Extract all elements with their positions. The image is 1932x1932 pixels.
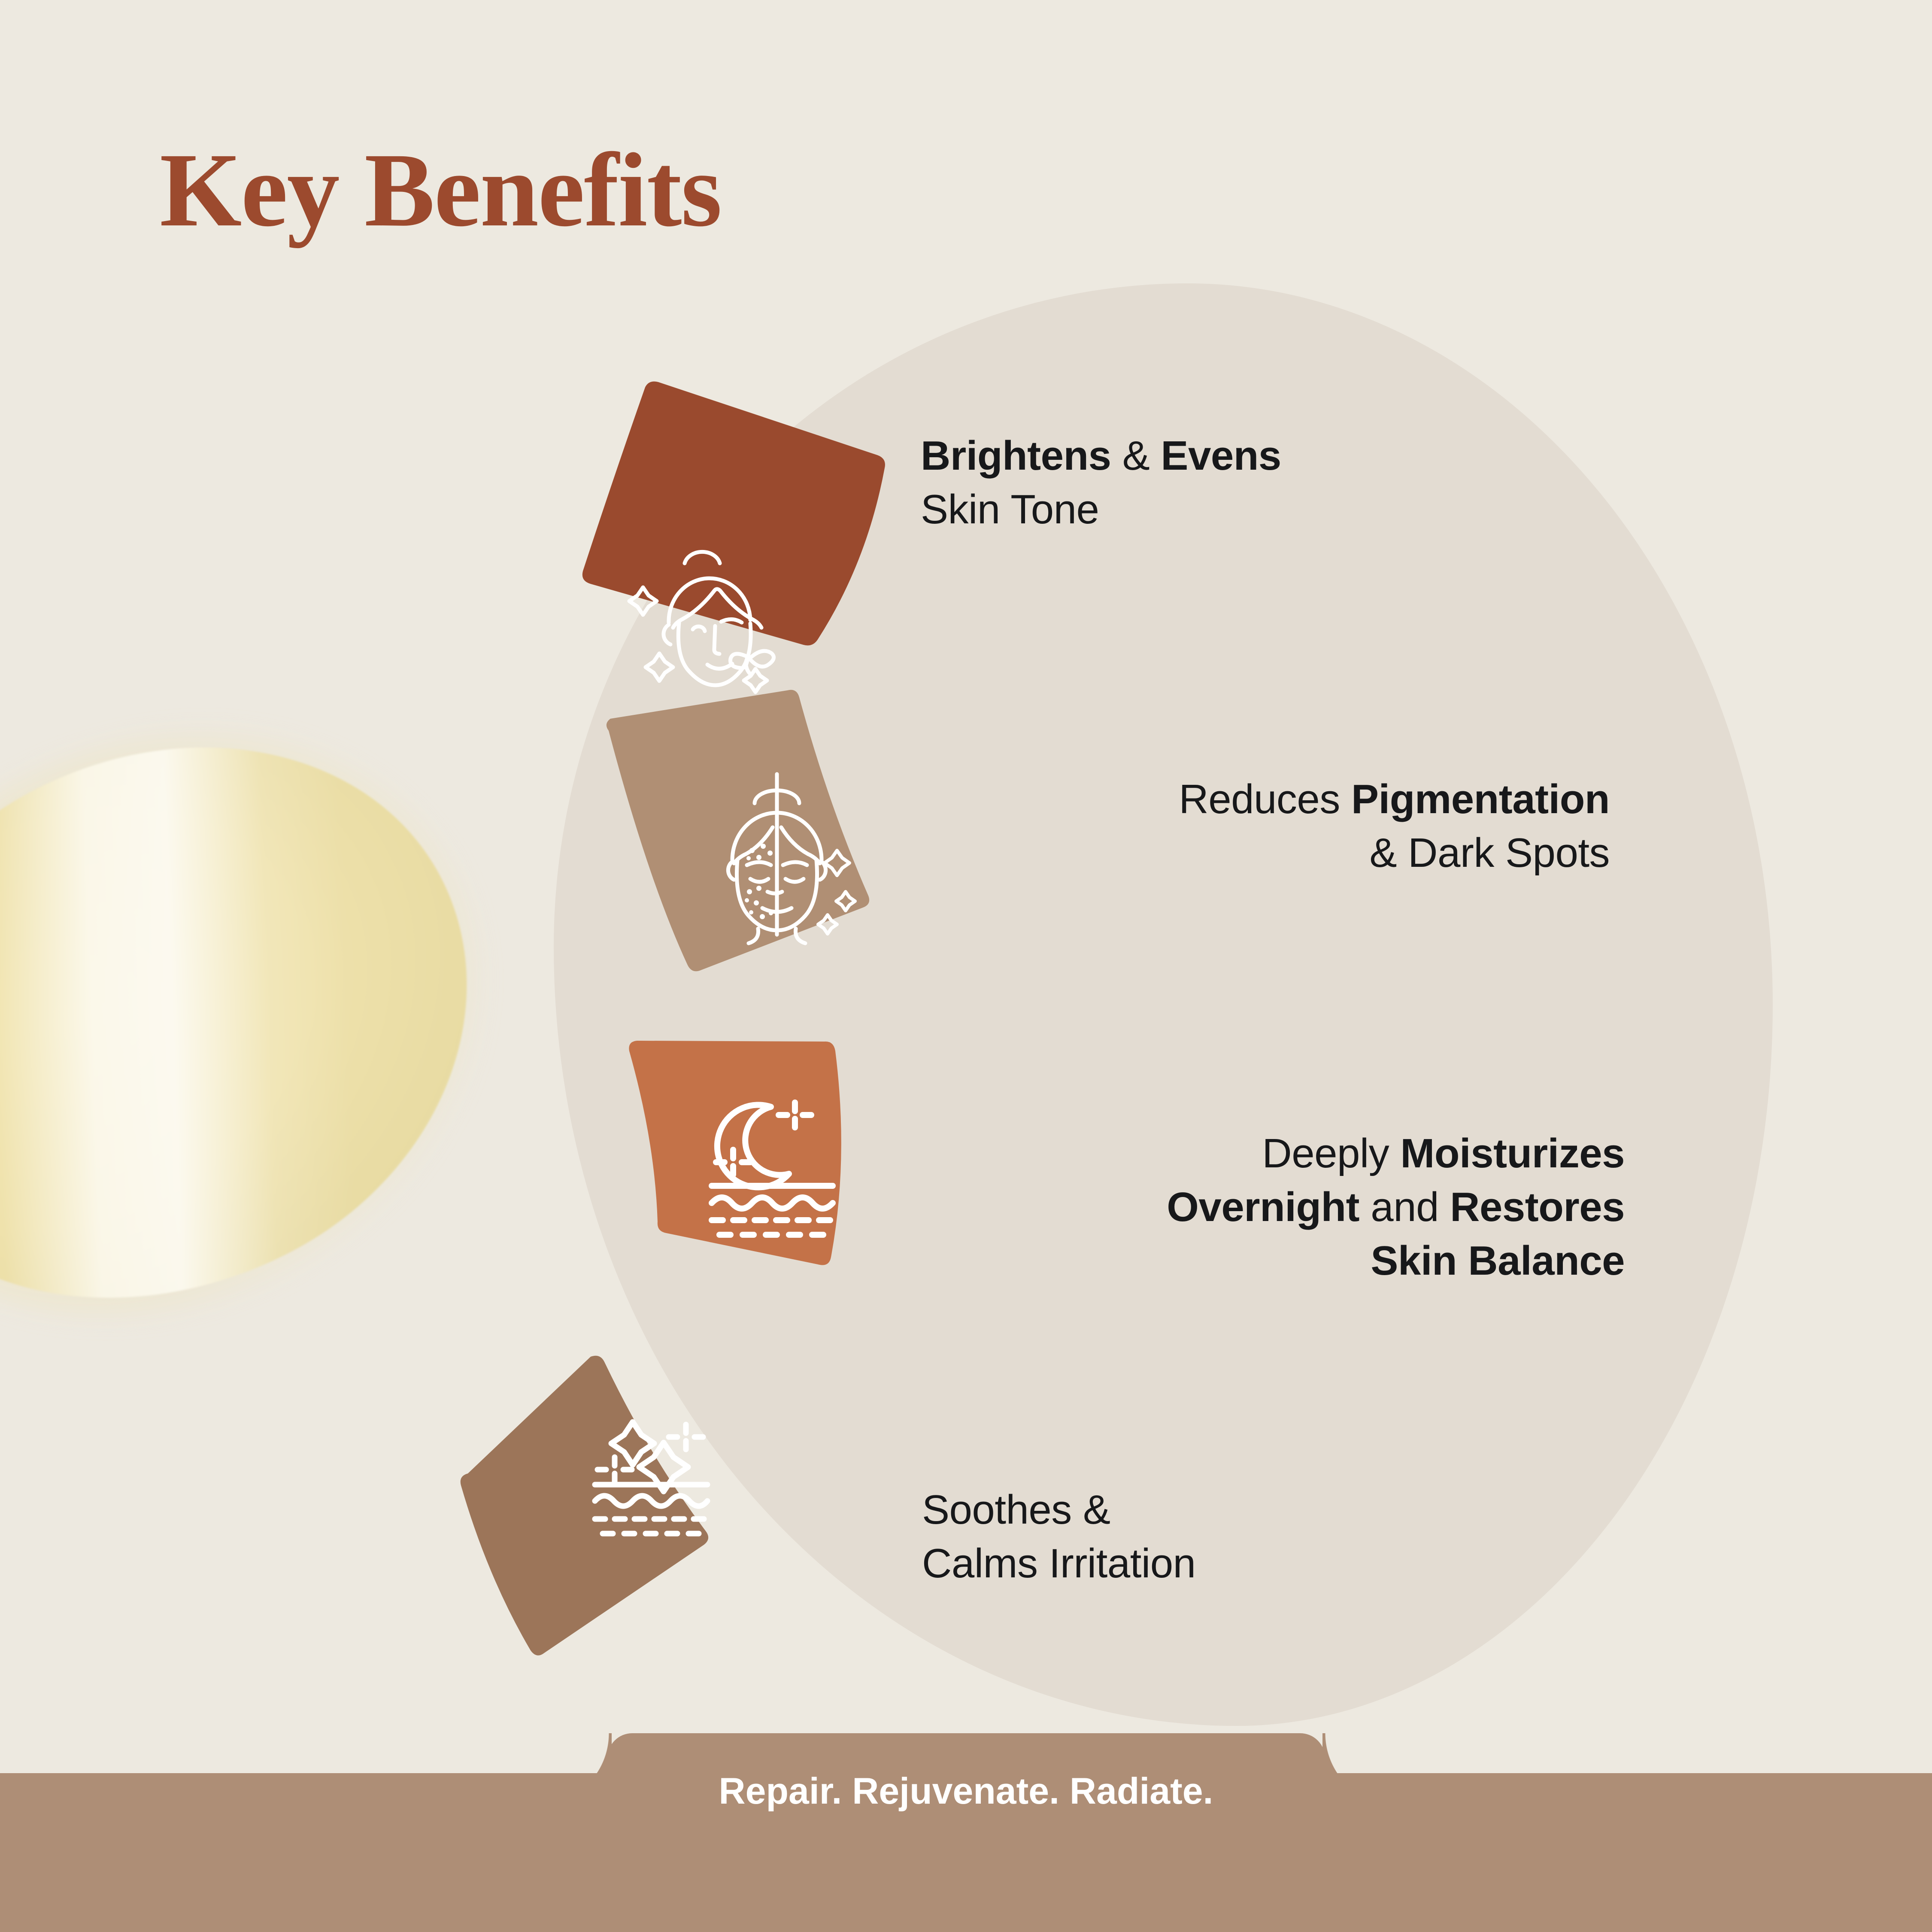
sparkles-over-skin-layers-icon bbox=[584, 1413, 755, 1567]
benefit-text-2: Reduces Pigmentation & Dark Spots bbox=[773, 773, 1610, 880]
benefit-3-line-3: Skin Balance bbox=[773, 1234, 1625, 1288]
benefit-segment-4[interactable] bbox=[455, 1344, 906, 1717]
footer-tagline: Repair. Rejuvenate. Radiate. bbox=[0, 1770, 1932, 1813]
benefit-4-line-1: Soothes & bbox=[922, 1483, 1195, 1537]
benefit-text-3: Deeply Moisturizes Overnight and Restore… bbox=[773, 1127, 1625, 1288]
benefit-1-line-2: Skin Tone bbox=[921, 483, 1281, 537]
benefit-2-line-2: & Dark Spots bbox=[773, 826, 1610, 880]
benefit-text-1: Brightens & Evens Skin Tone bbox=[921, 429, 1281, 537]
benefit-4-line-2: Calms Irritation bbox=[922, 1537, 1195, 1591]
face-with-leaf-and-sparkles-icon bbox=[597, 537, 760, 678]
page-title: Key Benefits bbox=[160, 137, 721, 243]
benefit-2-line-1: Reduces Pigmentation bbox=[773, 773, 1610, 826]
benefit-text-4: Soothes & Calms Irritation bbox=[922, 1483, 1195, 1591]
benefit-1-line-1: Brightens & Evens bbox=[921, 429, 1281, 483]
benefit-3-line-2: Overnight and Restores bbox=[773, 1181, 1625, 1234]
benefit-3-line-1: Deeply Moisturizes bbox=[773, 1127, 1625, 1181]
infographic-canvas: Key Benefits bbox=[0, 0, 1932, 1932]
